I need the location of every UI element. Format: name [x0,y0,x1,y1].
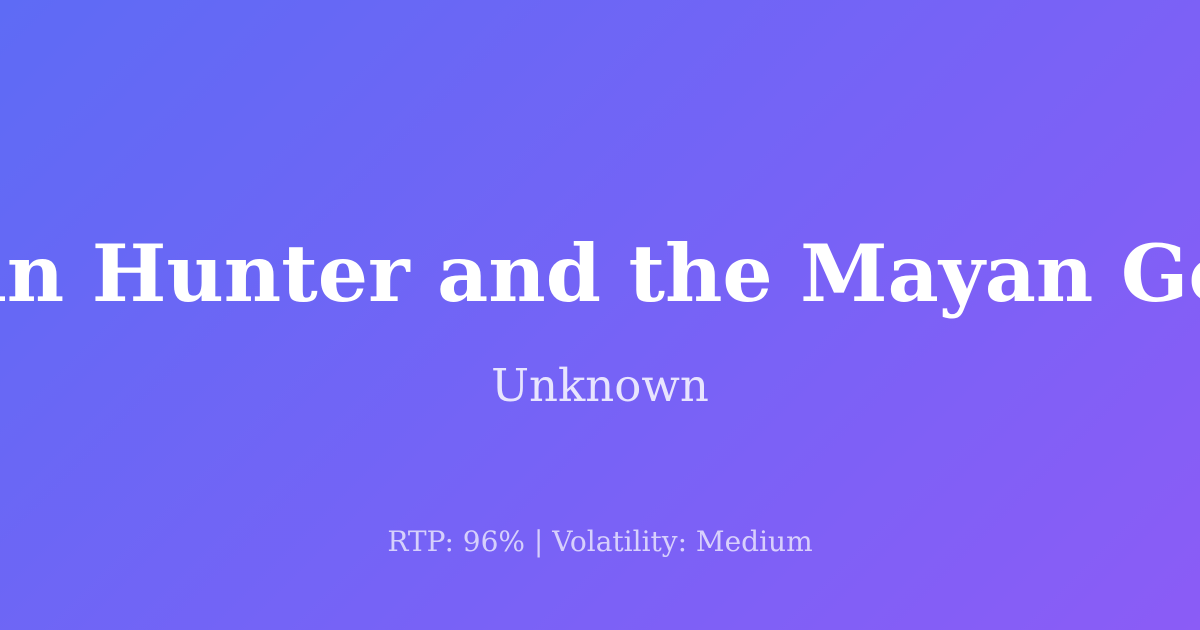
game-stats-line: RTP: 96% | Volatility: Medium [0,524,1200,560]
title-row: John Hunter and the Mayan Gods [0,228,1200,320]
og-share-card: John Hunter and the Mayan Gods Unknown R… [0,0,1200,630]
provider-subtitle: Unknown [0,358,1200,414]
page-title: John Hunter and the Mayan Gods [0,228,1200,320]
